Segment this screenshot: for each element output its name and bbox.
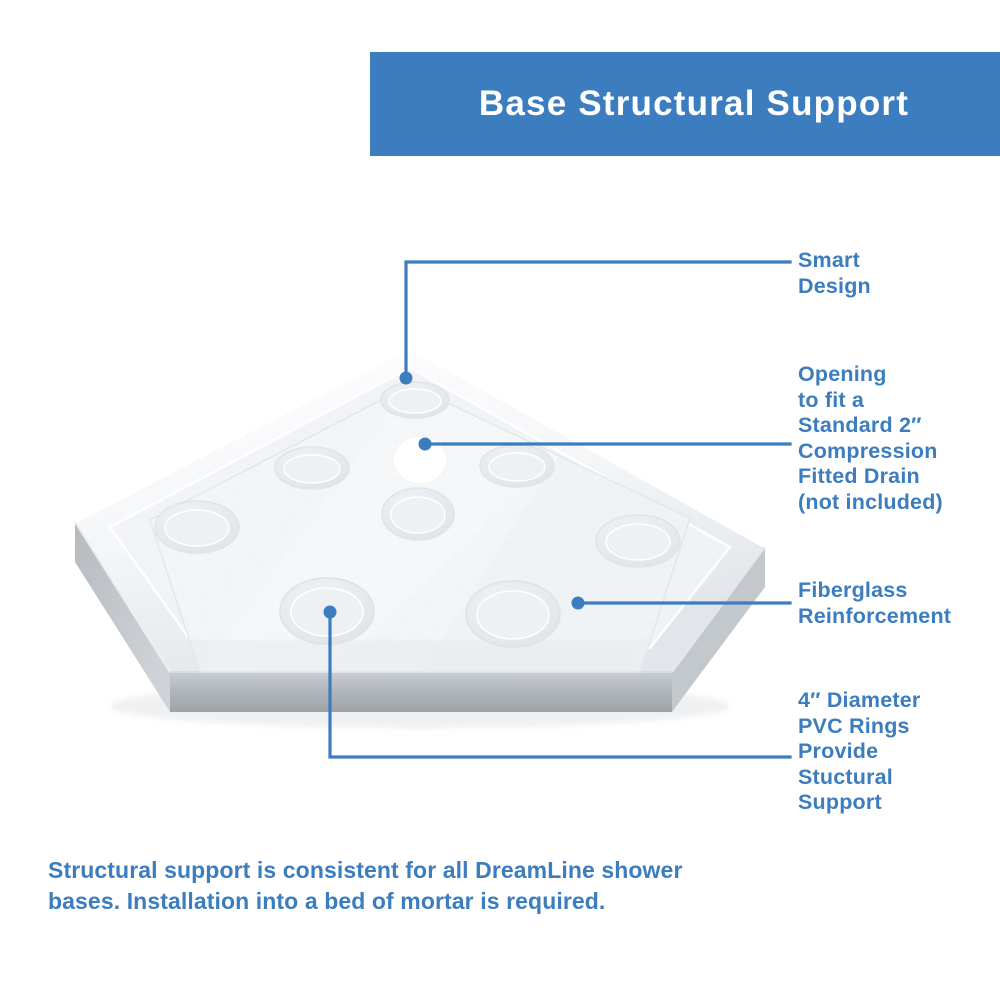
drain-opening	[393, 436, 447, 484]
pvc-ring	[382, 488, 454, 540]
pvc-ring	[596, 515, 680, 567]
annotation-smart-design: Smart Design	[798, 248, 871, 299]
pvc-ring	[466, 581, 560, 647]
page-title: Base Structural Support	[479, 84, 909, 124]
annotation-pvc-rings: 4″ Diameter PVC Rings Provide Stuctural …	[798, 688, 920, 816]
pvc-ring	[155, 501, 239, 553]
pvc-ring	[280, 578, 374, 644]
annotation-drain-opening: Opening to fit a Standard 2″ Compression…	[798, 362, 943, 515]
pvc-ring	[381, 382, 449, 418]
annotation-fiberglass-reinforcement: Fiberglass Reinforcement	[798, 578, 951, 629]
infographic-page: Base Structural Support Smart Design Ope…	[0, 0, 1000, 1000]
footer-caption: Structural support is consistent for all…	[48, 855, 688, 917]
pvc-ring	[480, 445, 554, 487]
pvc-ring	[275, 447, 349, 489]
header-banner: Base Structural Support	[370, 52, 1000, 156]
